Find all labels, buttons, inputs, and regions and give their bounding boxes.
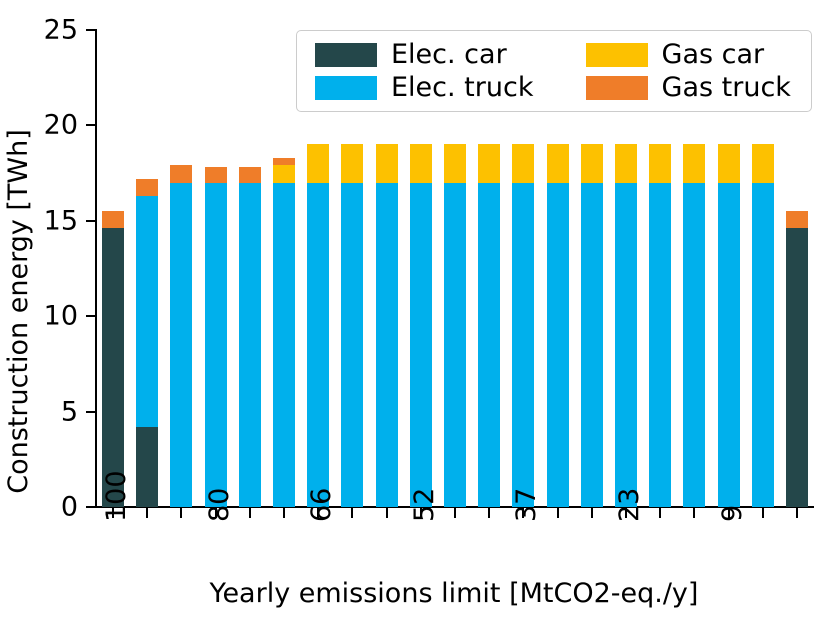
x-tick-label-80: 80: [207, 488, 233, 522]
bar-segment-gas-car: [478, 144, 500, 182]
y-tick-0: [86, 506, 95, 508]
chart-legend: Elec. car Gas car Elec. truck Gas truck: [296, 30, 812, 112]
y-tick-label-20: 20: [44, 112, 78, 139]
x-tick-16: [659, 508, 661, 518]
figure-canvas: Construction energy [TWh] 0510152025 100…: [0, 0, 830, 623]
bar-segment-elec-truck: [615, 183, 637, 507]
x-tick-2: [180, 508, 182, 518]
y-tick-label-0: 0: [61, 494, 78, 521]
x-axis-label: Yearly emissions limit [MtCO2-eq./y]: [95, 578, 813, 609]
x-tick-label-100: 100: [104, 470, 130, 522]
legend-label-gas-car: Gas car: [662, 41, 765, 68]
bar-segment-gas-car: [273, 165, 295, 182]
bar-stack[interactable]: [170, 30, 192, 507]
x-tick-19: [762, 508, 764, 518]
x-tick-10: [454, 508, 456, 518]
bar-segment-elec-truck: [205, 183, 227, 507]
bar-segment-gas-truck: [136, 179, 158, 196]
bar-stack[interactable]: [102, 30, 124, 507]
y-tick-20: [86, 124, 95, 126]
bar-segment-elec-car: [786, 228, 808, 507]
legend-entry-elec-car[interactable]: Elec. car: [315, 41, 540, 68]
bar-segment-elec-truck: [307, 183, 329, 507]
x-tick-8: [386, 508, 388, 518]
legend-entry-gas-car[interactable]: Gas car: [586, 41, 797, 68]
y-axis-label: Construction energy [TWh]: [0, 0, 36, 623]
x-tick-label-37: 37: [514, 488, 540, 522]
bar-stack[interactable]: [239, 30, 261, 507]
legend-swatch-elec-truck: [315, 76, 377, 100]
bar-segment-gas-car: [307, 144, 329, 182]
y-tick-label-25: 25: [44, 17, 78, 44]
bar-segment-elec-truck: [547, 183, 569, 507]
bar-segment-elec-car: [136, 427, 158, 507]
x-tick-11: [488, 508, 490, 518]
bar-segment-gas-car: [410, 144, 432, 182]
x-tick-label-23: 23: [617, 488, 643, 522]
bar-segment-elec-truck: [341, 183, 363, 507]
legend-label-gas-truck: Gas truck: [662, 74, 791, 101]
x-tick-7: [351, 508, 353, 518]
bar-segment-elec-car: [102, 228, 124, 507]
legend-swatch-gas-car: [586, 43, 648, 67]
bar-segment-elec-truck: [649, 183, 671, 507]
legend-entry-gas-truck[interactable]: Gas truck: [586, 74, 797, 101]
bar-stack[interactable]: [205, 30, 227, 507]
y-tick-25: [86, 29, 95, 31]
bar-segment-gas-car: [512, 144, 534, 182]
bar-segment-gas-car: [718, 144, 740, 182]
bar-segment-elec-truck: [170, 183, 192, 507]
bar-segment-gas-car: [547, 144, 569, 182]
legend-swatch-elec-car: [315, 43, 377, 67]
x-tick-17: [693, 508, 695, 518]
y-tick-5: [86, 411, 95, 413]
bar-segment-elec-truck: [752, 183, 774, 507]
x-tick-13: [557, 508, 559, 518]
legend-label-elec-truck: Elec. truck: [391, 74, 533, 101]
bar-segment-gas-car: [341, 144, 363, 182]
y-tick-10: [86, 315, 95, 317]
bar-stack[interactable]: [136, 30, 158, 507]
bar-segment-gas-truck: [239, 167, 261, 182]
bar-segment-gas-truck: [170, 165, 192, 182]
bar-segment-gas-car: [376, 144, 398, 182]
bar-segment-elec-truck: [478, 183, 500, 507]
bar-segment-gas-truck: [205, 167, 227, 182]
bar-segment-elec-truck: [410, 183, 432, 507]
bar-segment-gas-car: [615, 144, 637, 182]
bar-segment-elec-truck: [718, 183, 740, 507]
y-tick-15: [86, 220, 95, 222]
bar-segment-elec-truck: [444, 183, 466, 507]
x-tick-4: [249, 508, 251, 518]
bar-segment-gas-truck: [273, 158, 295, 166]
y-tick-label-5: 5: [61, 398, 78, 425]
bar-segment-elec-truck: [683, 183, 705, 507]
x-tick-label-52: 52: [412, 488, 438, 522]
bar-segment-elec-truck: [376, 183, 398, 507]
x-tick-label-66: 66: [309, 488, 335, 522]
bar-segment-gas-car: [752, 144, 774, 182]
y-tick-label-10: 10: [44, 303, 78, 330]
x-tick-20: [796, 508, 798, 518]
bar-segment-elec-truck: [239, 183, 261, 507]
legend-swatch-gas-truck: [586, 76, 648, 100]
y-tick-label-15: 15: [44, 207, 78, 234]
bar-segment-gas-car: [581, 144, 603, 182]
bar-segment-elec-truck: [581, 183, 603, 507]
bar-segment-gas-truck: [786, 211, 808, 228]
bar-segment-gas-car: [444, 144, 466, 182]
legend-label-elec-car: Elec. car: [391, 41, 507, 68]
x-tick-label-9: 9: [720, 505, 746, 522]
bar-segment-elec-truck: [512, 183, 534, 507]
x-tick-1: [146, 508, 148, 518]
bar-segment-gas-car: [683, 144, 705, 182]
bar-segment-gas-car: [649, 144, 671, 182]
x-tick-5: [283, 508, 285, 518]
x-tick-14: [591, 508, 593, 518]
legend-entry-elec-truck[interactable]: Elec. truck: [315, 74, 540, 101]
bar-segment-elec-truck: [136, 196, 158, 427]
bar-stack[interactable]: [273, 30, 295, 507]
bar-segment-elec-truck: [273, 183, 295, 507]
bar-segment-gas-truck: [102, 211, 124, 228]
